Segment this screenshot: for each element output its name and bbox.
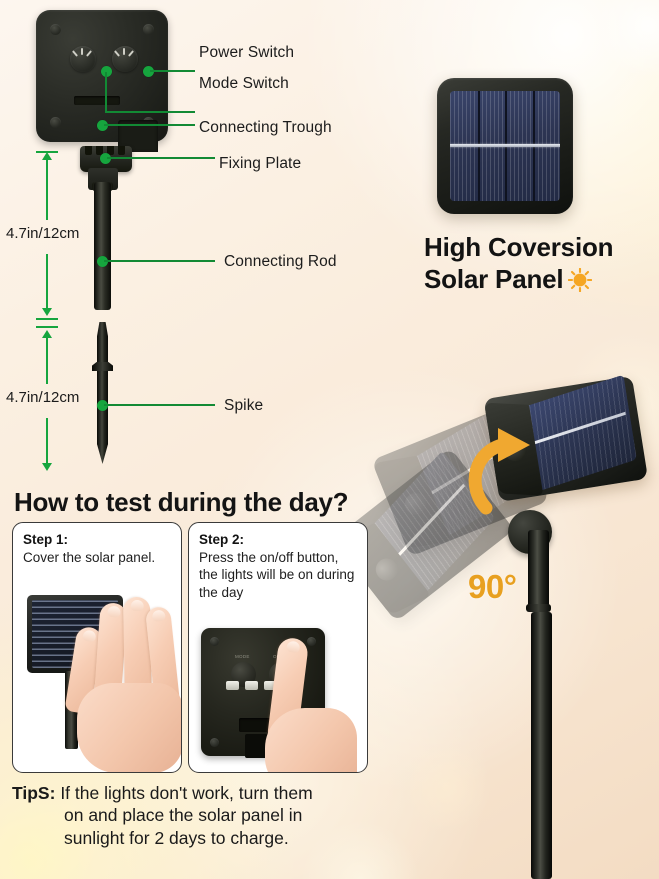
solar-panel-hero-image: [437, 78, 573, 214]
step-card-2: Step 2: Press the on/off button, the lig…: [188, 522, 368, 773]
hand-back: [265, 708, 357, 773]
label-plate: [74, 96, 120, 105]
palm: [77, 683, 182, 773]
sun-icon: [568, 268, 592, 292]
step-card-1: Step 1: Cover the solar panel.: [12, 522, 182, 773]
knob-indicator-icon: [128, 50, 134, 57]
screw-icon: [210, 738, 219, 747]
how-to-test-title: How to test during the day?: [14, 487, 348, 518]
callout-line-power-switch: [150, 70, 195, 72]
callout-line-spike: [104, 404, 215, 406]
dimension-line-spike-lower: [46, 418, 48, 466]
dimension-tick: [36, 326, 58, 328]
hero-line-2: Solar Panel: [424, 264, 563, 294]
knob-indicator-icon: [81, 48, 83, 55]
callout-line-mode-switch: [105, 111, 195, 113]
tips-line-3: sunlight for 2 days to charge.: [64, 827, 384, 849]
mode-switch-lever[interactable]: [226, 681, 239, 690]
dimension-label-spike: 4.7in/12cm: [4, 390, 81, 405]
ground-spike: [97, 322, 108, 464]
hand-covering-panel: [65, 587, 182, 717]
lamp-pole-band: [526, 604, 551, 612]
callout-line-connecting-trough: [104, 124, 195, 126]
tips-block: TipS: If the lights don't work, turn the…: [12, 782, 384, 849]
step-1-photo: [13, 587, 181, 772]
knob-indicator-icon: [86, 50, 92, 57]
dimension-tick: [36, 151, 58, 153]
fingernail: [107, 606, 121, 618]
fingernail: [82, 629, 97, 642]
dimension-label-rod: 4.7in/12cm: [4, 226, 81, 241]
callout-label-power-switch: Power Switch: [199, 45, 294, 61]
screw-icon: [50, 117, 61, 128]
knob-indicator-icon: [114, 50, 120, 57]
plate-tooth-icon: [118, 146, 125, 155]
step-1-body: Cover the solar panel.: [23, 549, 173, 566]
curved-rotation-arrow-icon: [460, 424, 556, 520]
finger-pressing-button: [263, 638, 359, 772]
dimension-line-spike-upper: [46, 336, 48, 384]
knob-indicator-icon: [123, 48, 125, 55]
fingernail: [151, 610, 165, 622]
dimension-line-rod-lower: [46, 254, 48, 311]
callout-label-fixing-plate: Fixing Plate: [219, 156, 301, 172]
ground-spike-collar: [92, 362, 113, 371]
callout-line-connecting-rod: [104, 260, 215, 262]
callout-label-connecting-trough: Connecting Trough: [199, 120, 332, 136]
step-2-body: Press the on/off button, the lights will…: [199, 549, 359, 601]
callout-label-mode-switch: Mode Switch: [199, 76, 289, 92]
bokeh-light: [596, 0, 659, 78]
infographic-page: Power Switch Mode Switch Connecting Trou…: [0, 0, 659, 879]
tips-line-2: on and place the solar panel in: [64, 804, 384, 826]
fingernail: [286, 641, 300, 654]
step-2-photo: MODE ON/OFF MODEL: BY123N-2: [189, 620, 367, 772]
lamp-pole-lower: [531, 612, 552, 879]
mode-switch-knob[interactable]: [70, 46, 96, 72]
solar-cell-array: [450, 91, 560, 201]
connecting-rod: [94, 182, 111, 310]
plate-tooth-icon: [85, 146, 92, 155]
dimension-arrow-down-icon: [42, 463, 52, 471]
dimension-arrow-down-icon: [42, 308, 52, 316]
fingernail: [130, 600, 143, 611]
tips-line-1: If the lights don't work, turn them: [60, 783, 312, 803]
screw-icon: [50, 24, 61, 35]
solar-busbar: [450, 144, 560, 147]
step-2-heading: Step 2:: [199, 532, 367, 547]
hero-heading: High Coversion Solar Panel: [424, 232, 659, 295]
mode-switch-lever[interactable]: [245, 681, 258, 690]
dimension-tick: [36, 318, 58, 320]
callout-label-spike: Spike: [224, 398, 263, 414]
knob-indicator-icon: [72, 50, 78, 57]
step-1-heading: Step 1:: [23, 532, 181, 547]
mode-switch-caption: MODE: [235, 654, 250, 659]
callout-line-mode-switch-vertical: [105, 72, 107, 112]
lamp-pole-upper: [528, 530, 549, 608]
power-switch-knob[interactable]: [112, 46, 138, 72]
tips-prefix: TipS:: [12, 783, 55, 803]
hero-line-1: High Coversion: [424, 232, 613, 262]
screw-icon: [143, 24, 154, 35]
screw-icon: [210, 637, 219, 646]
callout-label-connecting-rod: Connecting Rod: [224, 254, 337, 270]
rotation-degree-label: 90°: [468, 568, 516, 606]
callout-line-fixing-plate: [107, 157, 215, 159]
rotating-lamp-illustration: 90°: [392, 382, 659, 879]
dimension-line-rod-upper: [46, 158, 48, 220]
